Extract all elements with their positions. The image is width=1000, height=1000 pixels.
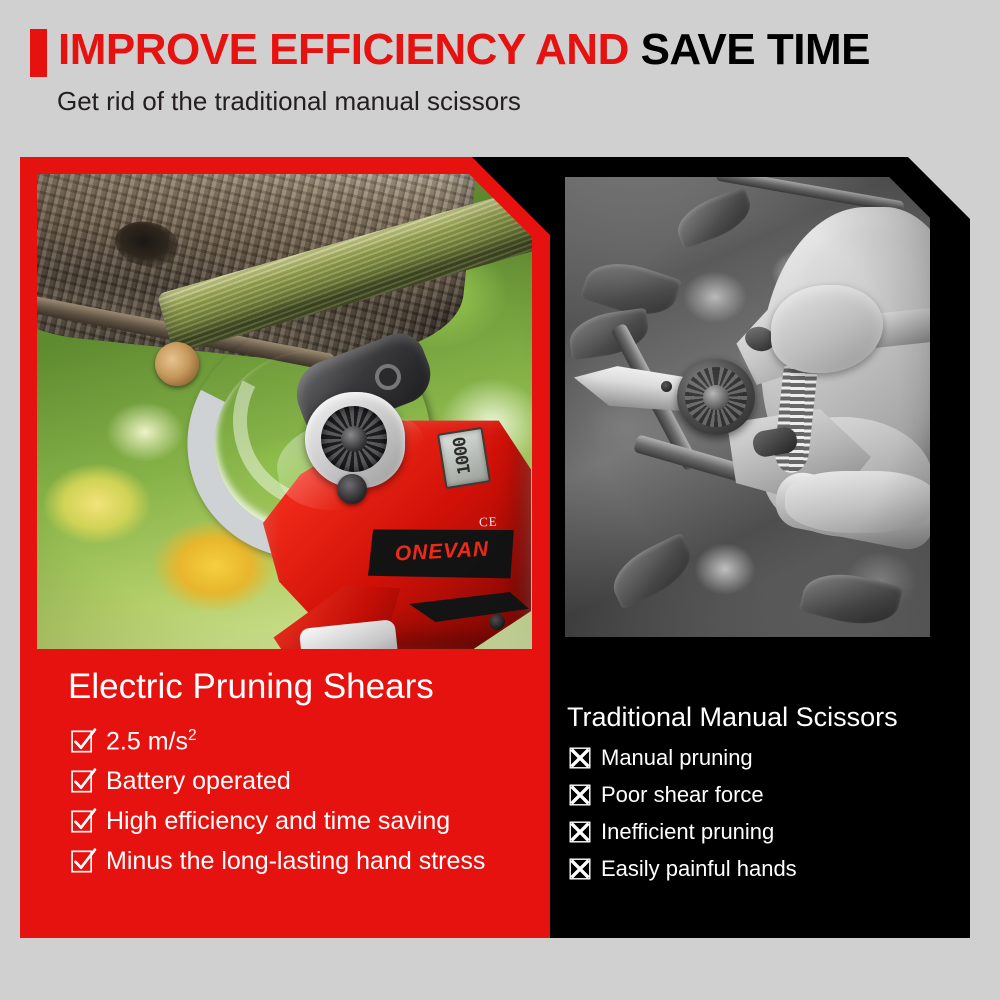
list-item-label: 2.5 m/s2: [106, 727, 197, 756]
list-item-label: Inefficient pruning: [601, 819, 774, 845]
list-item: Poor shear force: [568, 782, 948, 808]
list-item-label: Manual pruning: [601, 745, 753, 771]
photo-vignette: [565, 177, 930, 637]
checkbox-checked-icon: [70, 768, 97, 795]
checkbox-checked-icon: [70, 848, 97, 875]
page-title-accent: SAVE TIME: [629, 25, 870, 74]
traditional-scissors-photo: [565, 177, 930, 637]
checkbox-crossed-icon: [568, 783, 592, 807]
electric-panel-heading: Electric Pruning Shears: [68, 667, 434, 707]
list-item-label: High efficiency and time saving: [106, 807, 450, 836]
list-item: Inefficient pruning: [568, 819, 948, 845]
page-title-main: IMPROVE EFFICIENCY AND: [58, 25, 629, 74]
vertical-bar-icon: [30, 29, 47, 77]
comparison-panel-electric: ONEVAN CE 1000 Electric Pruning Shears 2…: [20, 157, 550, 938]
electric-feature-list: 2.5 m/s2 Battery operated High efficienc…: [70, 727, 540, 887]
list-item: Manual pruning: [568, 745, 948, 771]
checkbox-checked-icon: [70, 808, 97, 835]
list-item: 2.5 m/s2: [70, 727, 540, 756]
checkbox-crossed-icon: [568, 746, 592, 770]
traditional-panel-heading: Traditional Manual Scissors: [567, 702, 898, 733]
list-item-label: Battery operated: [106, 767, 291, 796]
list-item-label: Poor shear force: [601, 782, 764, 808]
list-item: Battery operated: [70, 767, 540, 796]
page-title-text: IMPROVE EFFICIENCY AND SAVE TIME: [58, 26, 870, 74]
comparison-panels: Traditional Manual Scissors Manual pruni…: [0, 150, 1000, 950]
checkbox-checked-icon: [70, 728, 97, 755]
traditional-feature-list: Manual pruning Poor shear force Ineffici…: [568, 745, 948, 893]
photo-vignette: [37, 174, 532, 649]
list-item-label: Easily painful hands: [601, 856, 797, 882]
list-item: High efficiency and time saving: [70, 807, 540, 836]
list-item: Minus the long-lasting hand stress: [70, 847, 540, 876]
list-item-label-superscript: 2: [188, 727, 197, 744]
checkbox-crossed-icon: [568, 820, 592, 844]
header-banner: IMPROVE EFFICIENCY AND SAVE TIME Get rid…: [0, 0, 1000, 150]
electric-shears-photo: ONEVAN CE 1000: [37, 174, 532, 649]
page-title: IMPROVE EFFICIENCY AND SAVE TIME: [30, 26, 870, 77]
list-item: Easily painful hands: [568, 856, 948, 882]
list-item-label-text: 2.5 m/s: [106, 727, 188, 755]
page-subtitle: Get rid of the traditional manual scisso…: [57, 86, 521, 117]
list-item-label: Minus the long-lasting hand stress: [106, 847, 485, 876]
checkbox-crossed-icon: [568, 857, 592, 881]
